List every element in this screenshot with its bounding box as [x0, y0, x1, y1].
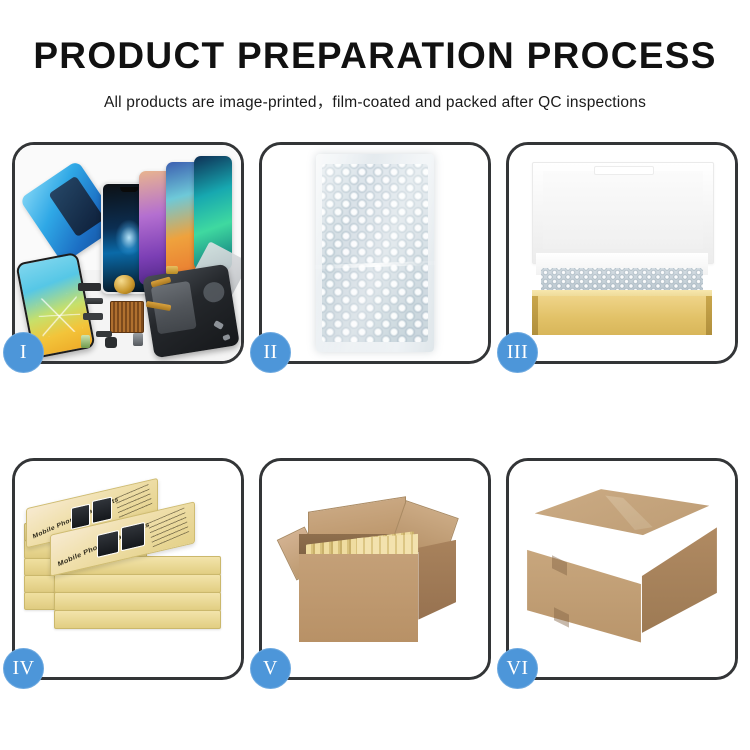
sealed-carton-front-face — [527, 542, 641, 643]
step-badge-1: I — [3, 332, 44, 373]
box-lid-tab — [594, 166, 654, 175]
process-step-grid: I II III — [12, 142, 738, 694]
stacked-box-right-2 — [54, 574, 221, 593]
sealed-carton-graphic — [527, 489, 717, 649]
stacked-box-right-4 — [54, 610, 221, 629]
step-6-illustration — [509, 461, 735, 677]
step-2-illustration — [262, 145, 488, 361]
part-bar-1 — [78, 283, 101, 291]
step-badge-2: II — [250, 332, 291, 373]
speaker-coil-part-icon — [114, 275, 134, 294]
stacked-box-right-3 — [54, 592, 221, 611]
open-carton-graphic — [285, 500, 466, 643]
phone-notch-icon — [120, 187, 138, 192]
page-root: PRODUCT PREPARATION PROCESS All products… — [0, 0, 750, 750]
box-phone-image-4 — [121, 522, 144, 552]
small-part-1 — [81, 335, 90, 348]
process-step-panel-4[interactable]: Mobile Phone Spare Parts Mobile Phone Sp… — [12, 458, 244, 680]
box-phone-image-3 — [97, 530, 119, 558]
box-spec-lines-second — [148, 507, 189, 546]
step-badge-5: V — [250, 648, 291, 689]
inner-box-lid-graphic — [532, 162, 715, 263]
header: PRODUCT PREPARATION PROCESS All products… — [0, 0, 750, 112]
page-subtitle: All products are image-printed，film-coat… — [0, 77, 750, 112]
process-step-panel-3[interactable]: III — [506, 142, 738, 364]
sealed-carton-side-face — [637, 527, 717, 632]
step-badge-3: III — [497, 332, 538, 373]
page-title: PRODUCT PREPARATION PROCESS — [0, 0, 750, 77]
small-part-4 — [166, 266, 177, 274]
inner-box-front-panel — [532, 296, 713, 335]
small-part-2 — [105, 337, 116, 348]
carton-front-face — [299, 554, 418, 642]
process-step-panel-6[interactable]: VI — [506, 458, 738, 680]
step-1-illustration — [15, 145, 241, 361]
phone-back-housing-graphic — [142, 264, 240, 359]
plastic-sheen-overlay — [316, 154, 434, 353]
bubble-wrap-pouch-graphic — [316, 154, 434, 353]
process-step-panel-2[interactable]: II — [259, 142, 491, 364]
carton-side-face — [418, 540, 456, 620]
step-3-illustration — [509, 145, 735, 361]
step-badge-4: IV — [3, 648, 44, 689]
process-step-panel-1[interactable]: I — [12, 142, 244, 364]
part-bar-2 — [83, 313, 103, 319]
step-4-illustration: Mobile Phone Spare Parts Mobile Phone Sp… — [15, 461, 241, 677]
retail-box-stack: Mobile Phone Spare Parts Mobile Phone Sp… — [20, 474, 237, 664]
small-part-3 — [133, 333, 143, 346]
part-bar-3 — [96, 331, 112, 337]
chip-grid-part-icon — [110, 301, 144, 333]
flex-cable-3 — [85, 298, 103, 304]
step-5-illustration — [262, 461, 488, 677]
step-badge-6: VI — [497, 648, 538, 689]
process-step-panel-5[interactable]: V — [259, 458, 491, 680]
